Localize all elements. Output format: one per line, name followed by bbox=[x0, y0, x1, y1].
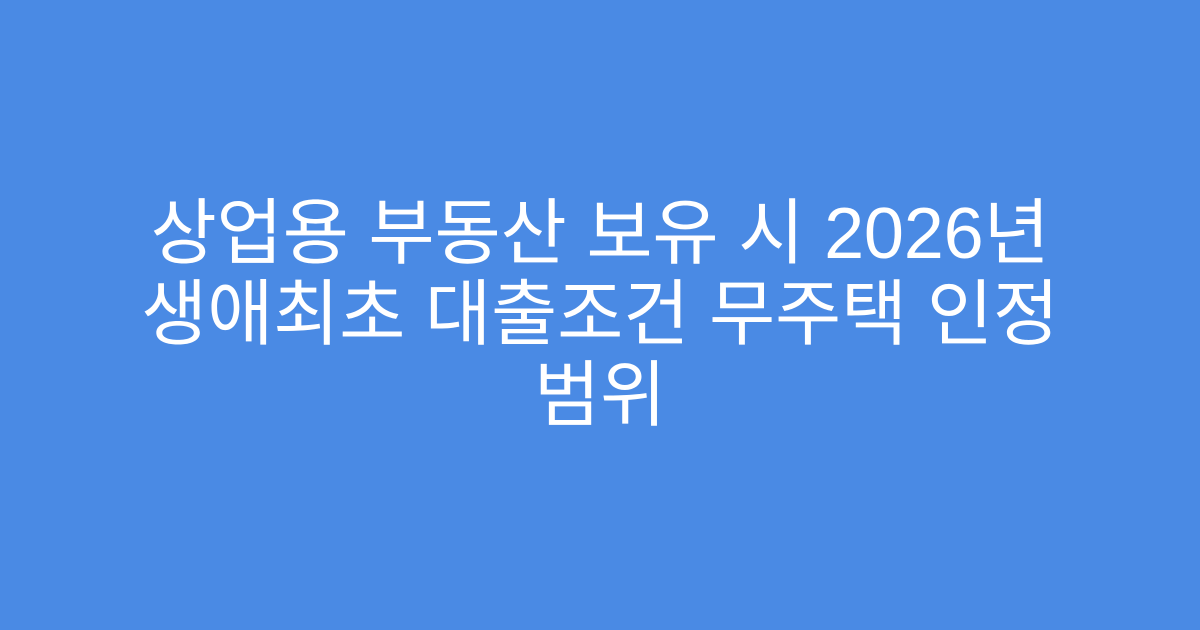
og-card: 상업용 부동산 보유 시 2026년 생애최초 대출조건 무주택 인정 범위 bbox=[0, 0, 1200, 630]
headline-block: 상업용 부동산 보유 시 2026년 생애최초 대출조건 무주택 인정 범위 bbox=[100, 194, 1100, 437]
page-title: 상업용 부동산 보유 시 2026년 생애최초 대출조건 무주택 인정 범위 bbox=[100, 194, 1100, 437]
